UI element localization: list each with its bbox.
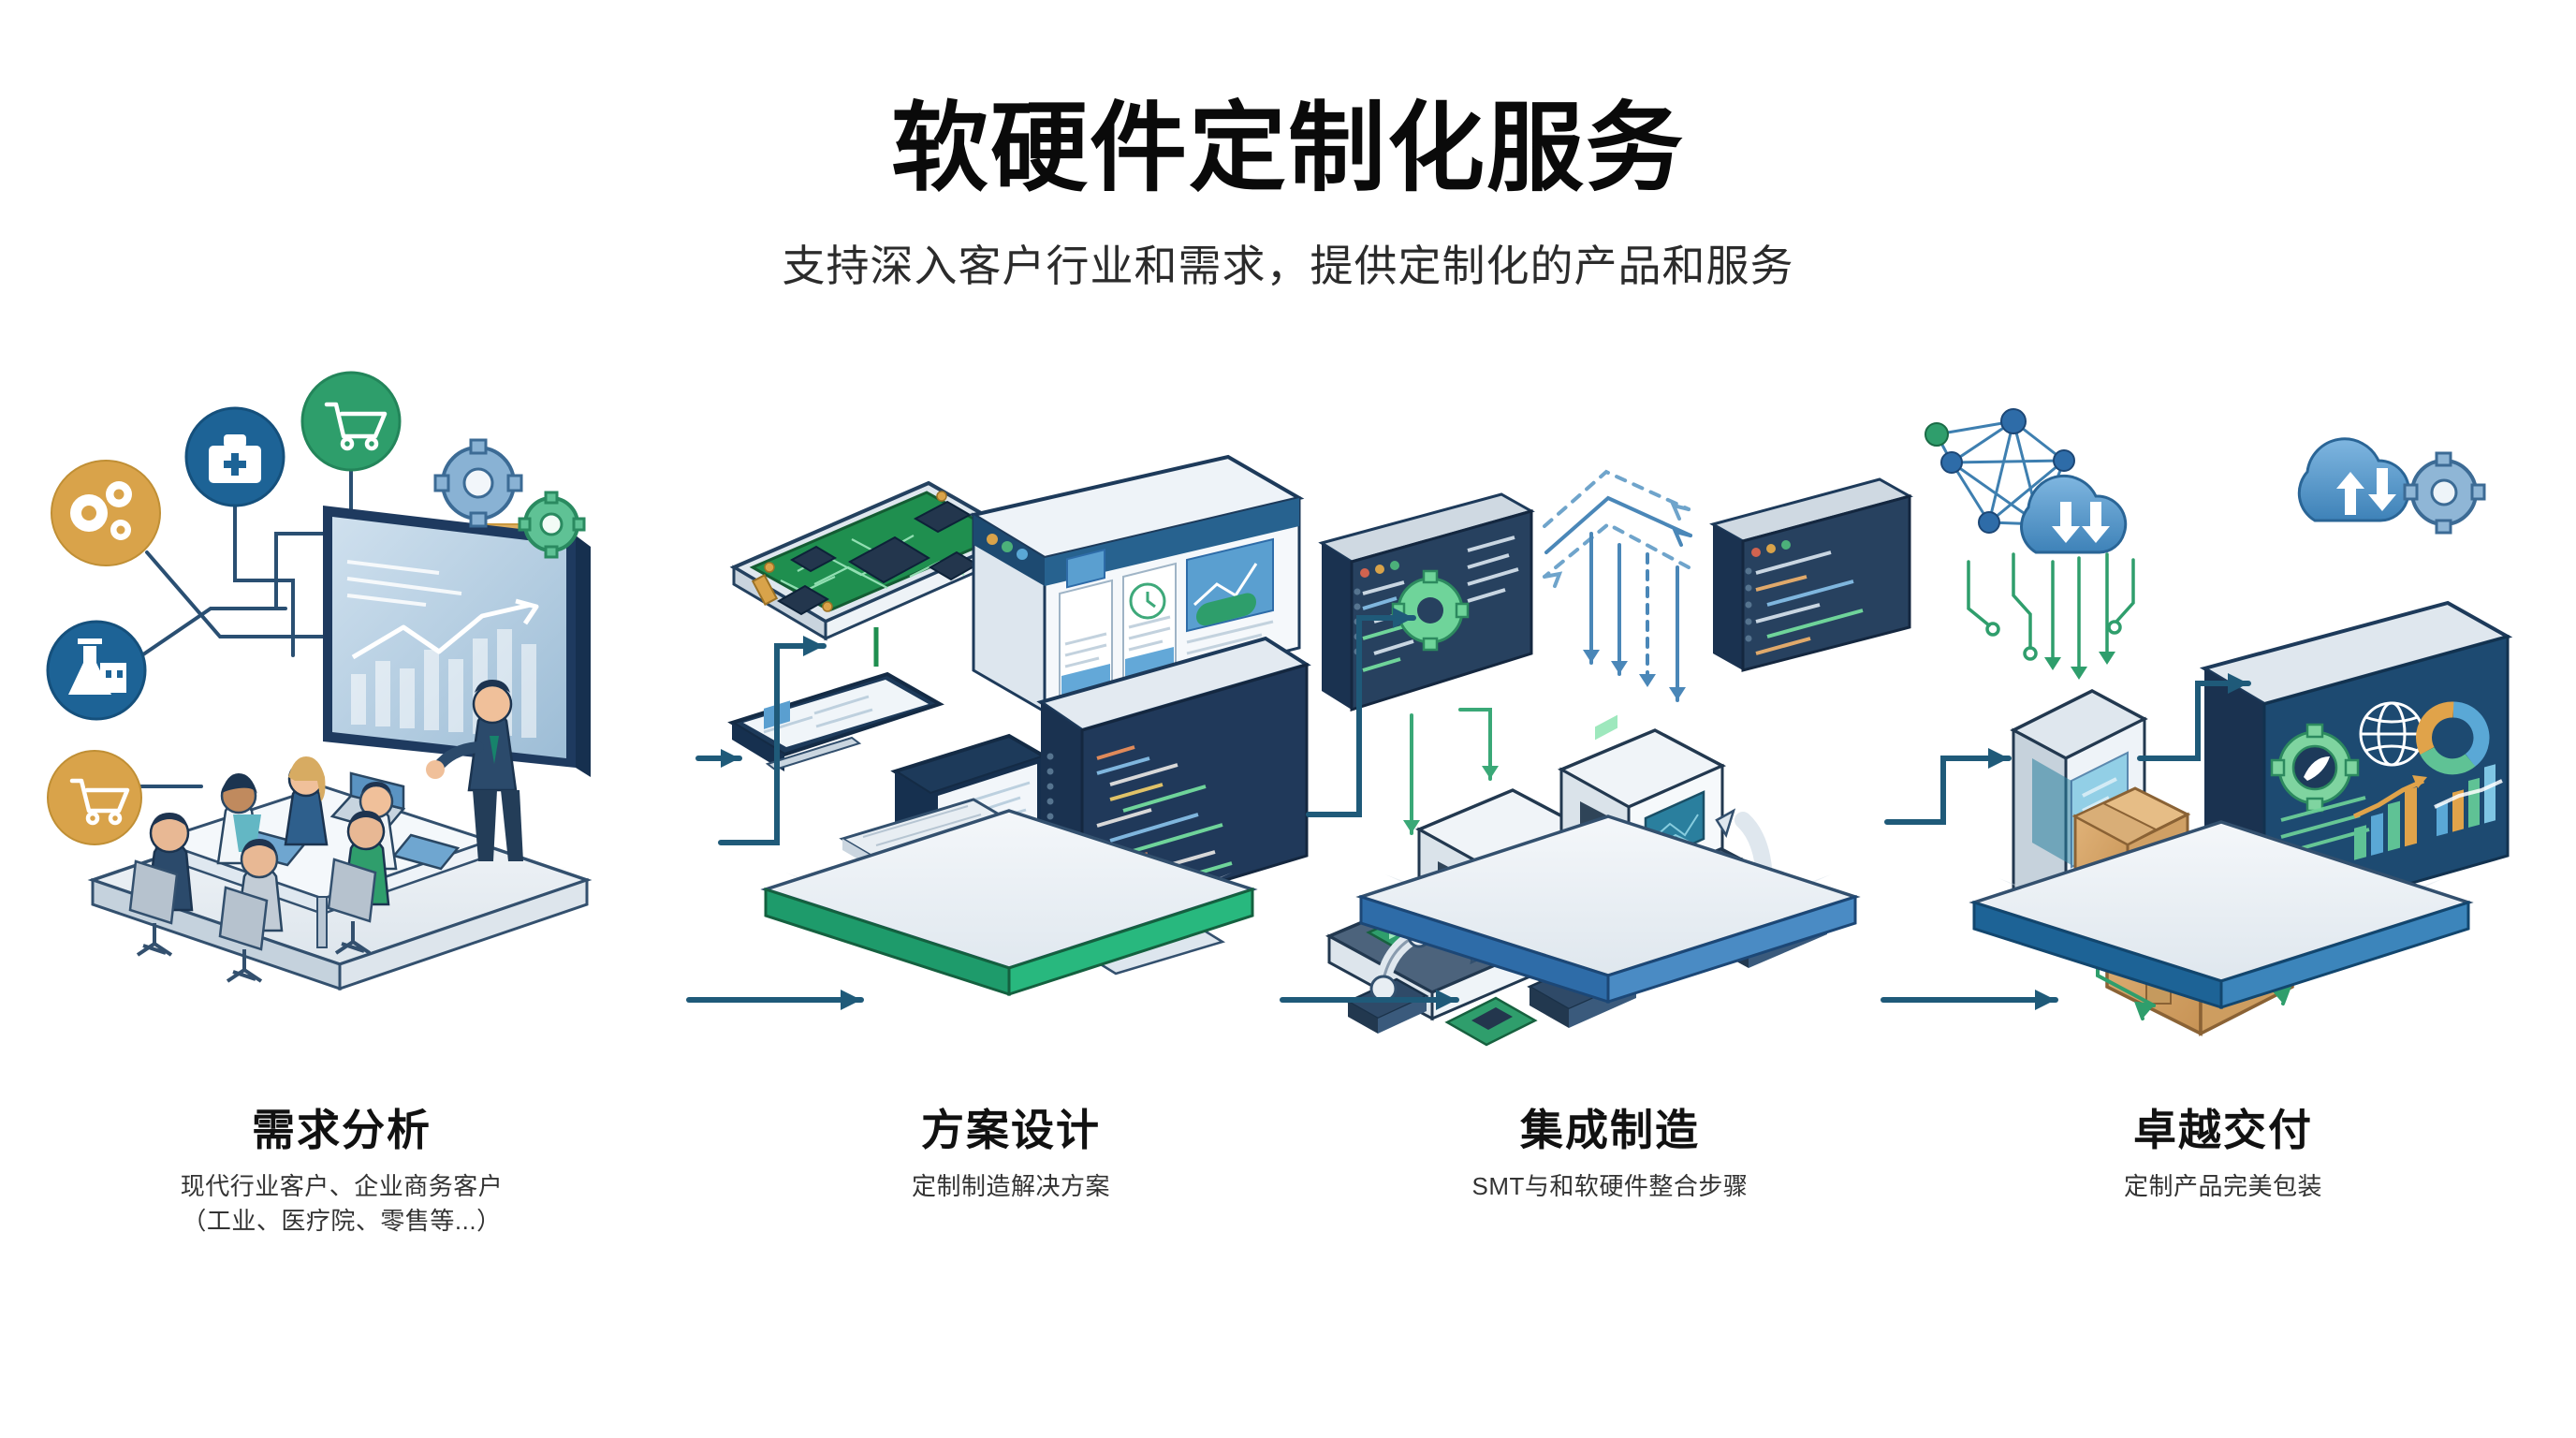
stage-title: 集成制造 <box>1310 1105 1910 1156</box>
stage-requirements-illustration <box>42 393 641 1067</box>
shopping-cart-icon <box>302 373 400 470</box>
stage-manufacturing-illustration <box>1310 393 1910 1067</box>
mockup-card-1 <box>1060 550 1112 698</box>
stage-design: 方案设计 定制制造解决方案 <box>711 393 1310 1329</box>
tablet-device <box>732 674 940 771</box>
stage-strip: 需求分析 现代行业客户、企业商务客户 （工业、医疗院、零售等...） <box>0 393 2576 1329</box>
page-title: 软硬件定制化服务 <box>0 94 2576 206</box>
cloud-upload-icon <box>2299 439 2408 521</box>
blue-gear-icon <box>435 440 521 526</box>
stage-desc-line: 定制制造解决方案 <box>711 1169 1310 1204</box>
stage-delivery: 卓越交付 定制产品完美包装 <box>1924 393 2523 1329</box>
cloud-sync-icon <box>2022 476 2126 552</box>
data-stream-lines <box>1969 554 2133 680</box>
medical-kit-icon <box>186 408 284 506</box>
stage-manufacturing-caption: 集成制造 SMT与和软硬件整合步骤 <box>1310 1105 1910 1204</box>
factory-flask-icon <box>48 622 145 719</box>
stage-desc: 定制产品完美包装 <box>1924 1169 2523 1204</box>
stage-title: 方案设计 <box>711 1105 1310 1156</box>
stage-design-illustration <box>711 393 1310 1067</box>
gears-icon <box>51 461 160 565</box>
stage-requirements: 需求分析 现代行业客户、企业商务客户 （工业、医疗院、零售等...） <box>42 393 641 1329</box>
stage-delivery-illustration <box>1924 393 2523 1067</box>
stage-title: 卓越交付 <box>1924 1105 2523 1156</box>
stage-title: 需求分析 <box>42 1105 641 1156</box>
code-screen-gear <box>1322 494 1531 710</box>
code-screen-right <box>1713 479 1910 670</box>
connector-lines <box>128 461 351 786</box>
stage-desc: 定制制造解决方案 <box>711 1169 1310 1204</box>
person-client-1 <box>285 756 327 844</box>
stage-desc-line: SMT与和软硬件整合步骤 <box>1310 1169 1910 1204</box>
stage-manufacturing: 集成制造 SMT与和软硬件整合步骤 <box>1310 393 1910 1329</box>
stage-delivery-caption: 卓越交付 定制产品完美包装 <box>1924 1105 2523 1204</box>
stage-desc: SMT与和软硬件整合步骤 <box>1310 1169 1910 1204</box>
stage-desc-line: 现代行业客户、企业商务客户 <box>42 1169 641 1204</box>
header: 软硬件定制化服务 支持深入客户行业和需求，提供定制化的产品和服务 <box>0 0 2576 294</box>
stage-desc-line: 定制产品完美包装 <box>1924 1169 2523 1204</box>
stage-requirements-caption: 需求分析 现代行业客户、企业商务客户 （工业、医疗院、零售等...） <box>42 1105 641 1239</box>
mockup-card-2 <box>1123 564 1176 682</box>
blue-gear-icon <box>2405 453 2484 533</box>
stage-desc-line: （工业、医疗院、零售等...） <box>42 1204 641 1239</box>
stage-desc: 现代行业客户、企业商务客户 （工业、医疗院、零售等...） <box>42 1169 641 1239</box>
shopping-cart-icon-2 <box>48 751 141 844</box>
stage-design-caption: 方案设计 定制制造解决方案 <box>711 1105 1310 1204</box>
page-subtitle: 支持深入客户行业和需求，提供定制化的产品和服务 <box>0 232 2576 294</box>
